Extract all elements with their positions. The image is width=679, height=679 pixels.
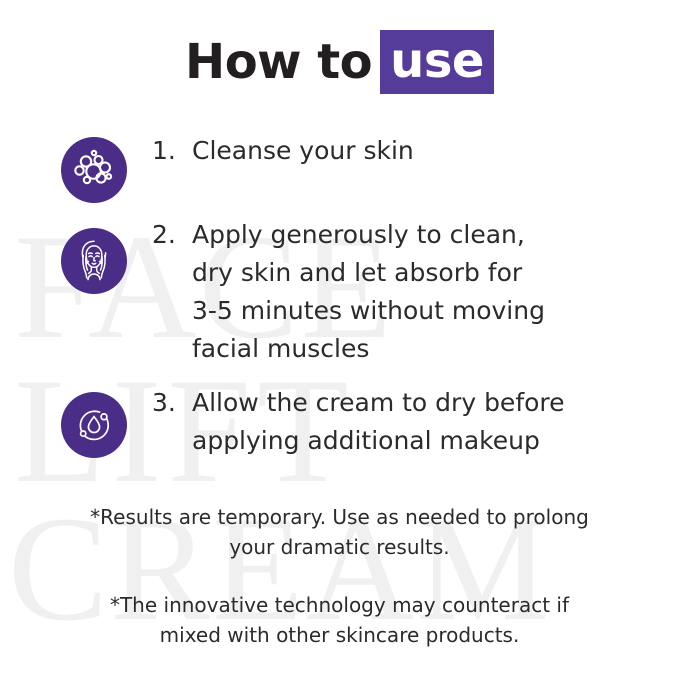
footnote-line: *The innovative technology may counterac… — [0, 590, 679, 620]
list-item-line: 3-5 minutes without moving — [192, 292, 633, 330]
list-item-text: Apply generously to clean, dry skin and … — [192, 216, 633, 368]
footnote-results: *Results are temporary. Use as needed to… — [0, 502, 679, 562]
list-item-text: Cleanse your skin — [192, 132, 633, 170]
steps-list: 1. Cleanse your skin — [0, 132, 679, 474]
list-item: 1. Cleanse your skin — [0, 132, 679, 216]
list-item-line: Apply generously to clean, — [192, 216, 633, 254]
list-item-line: dry skin and let absorb for — [192, 254, 633, 292]
footnote-line: your dramatic results. — [0, 532, 679, 562]
list-item-number: 1. — [152, 132, 192, 170]
list-item-line: applying additional makeup — [192, 422, 633, 460]
footnote-line: mixed with other skincare products. — [0, 620, 679, 650]
bubbles-icon — [61, 137, 127, 203]
page-title-plain: How to — [185, 38, 372, 86]
list-item-line: Allow the cream to dry before — [192, 384, 633, 422]
list-item-line: facial muscles — [192, 330, 633, 368]
droplet-orbit-icon — [61, 392, 127, 458]
list-item-line: Cleanse your skin — [192, 132, 633, 170]
footnote-line: *Results are temporary. Use as needed to… — [0, 502, 679, 532]
list-item: 2. Apply generously to clean, dry skin a… — [0, 216, 679, 384]
list-item-number: 2. — [152, 216, 192, 254]
face-massage-icon — [61, 228, 127, 294]
how-to-use-infographic: FACE LIFT CREAM How touse — [0, 0, 679, 679]
footnotes: *Results are temporary. Use as needed to… — [0, 502, 679, 650]
list-item-text: Allow the cream to dry before applying a… — [192, 384, 633, 460]
page-title-highlight: use — [380, 30, 494, 94]
footnote-technology: *The innovative technology may counterac… — [0, 590, 679, 650]
page-title: How touse — [0, 30, 679, 94]
list-item: 3. Allow the cream to dry before applyin… — [0, 384, 679, 474]
list-item-number: 3. — [152, 384, 192, 422]
